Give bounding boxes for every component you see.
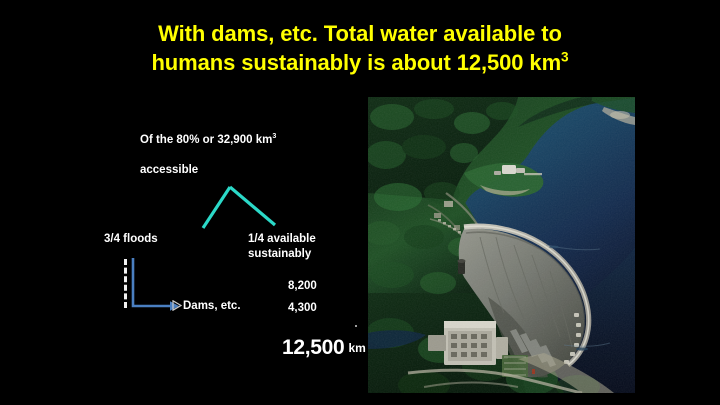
accessible-water-label: Of the 80% or 32,900 km3 accessible <box>140 118 350 178</box>
value-4300: 4,300 <box>288 302 317 314</box>
total-sustainable-water: 12,500km <box>282 336 366 360</box>
accessible-label-superscript: 3 <box>272 132 276 140</box>
total-unit: km <box>348 341 365 355</box>
slide-canvas: With dams, etc. Total water available to… <box>0 0 720 405</box>
aerial-dam-photo <box>368 97 635 393</box>
accessible-label-text: Of the 80% or 32,900 km <box>140 134 272 146</box>
branch-split-lines <box>195 180 285 235</box>
dams-label: Dams, etc. <box>183 299 241 314</box>
title-superscript: 3 <box>561 50 568 65</box>
page-title: With dams, etc. Total water available to… <box>0 19 720 77</box>
branch-label-floods: 3/4 floods <box>104 232 158 247</box>
accessible-label-text-line2: accessible <box>140 164 198 176</box>
title-line-1: With dams, etc. Total water available to <box>158 21 562 46</box>
title-line-2: humans sustainably is about 12,500 km3 <box>0 48 720 77</box>
small-arrowhead-icon <box>172 300 182 311</box>
branch-label-sustainable: 1/4 available sustainably <box>248 232 358 262</box>
value-8200: 8,200 <box>288 280 317 292</box>
image-speck-artifact <box>355 325 357 327</box>
total-value: 12,500 <box>282 336 344 359</box>
dashed-connector-line <box>124 259 127 308</box>
